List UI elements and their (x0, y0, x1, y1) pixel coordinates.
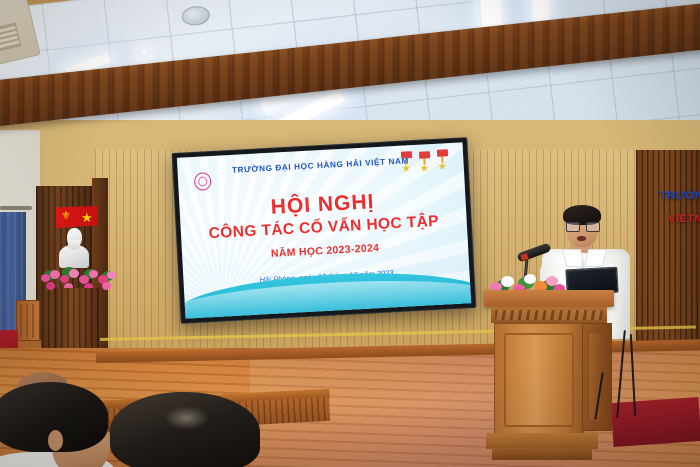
flower (107, 271, 116, 279)
wall-sign-blue: TRƯỜNG (660, 190, 700, 202)
wall-sign-red: VIETN (668, 213, 700, 225)
flower (89, 270, 98, 278)
eyeglasses-icon (566, 222, 598, 230)
attendee-ear (48, 430, 63, 451)
vietnam-party-flags-icon: ⚜ (56, 204, 100, 231)
lectern-carved-panel (491, 307, 607, 323)
flower (50, 270, 60, 279)
flower (69, 269, 79, 278)
laptop-screen (569, 270, 616, 292)
wooden-lectern (484, 290, 614, 462)
decor-star: ★ (438, 162, 447, 172)
dark-wood-panel-right (636, 150, 700, 365)
lens-right (586, 222, 600, 232)
lectern-plinth (492, 448, 592, 460)
lectern-top (484, 290, 614, 307)
red-stage-carpet (611, 397, 700, 447)
decor-star: ★ (420, 164, 429, 174)
hammer-sickle-icon: ⚜ (61, 211, 71, 222)
flower (501, 276, 514, 287)
attendee-hair (110, 392, 260, 467)
decor-star: ★ (402, 164, 411, 174)
projection-screen: ★ ★ ★ TRƯỜNG ĐẠI HỌC HÀNG HẢI VIỆT NAM H… (172, 137, 477, 324)
chair-back (16, 300, 40, 342)
attendee-center (110, 392, 260, 467)
flower (46, 282, 55, 290)
flower (102, 282, 111, 290)
flower (41, 274, 50, 282)
bust-beard (68, 240, 80, 250)
lectern-base (486, 433, 598, 449)
conference-hall-photo: TRƯỜNG VIETN ⚜ (0, 0, 700, 467)
lens-left (566, 222, 580, 232)
slide-surface: ★ ★ ★ TRƯỜNG ĐẠI HỌC HÀNG HẢI VIỆT NAM H… (177, 142, 471, 318)
presenter-mouth (577, 236, 586, 241)
curtain-rail (0, 206, 32, 210)
lectern-front-panel (494, 323, 584, 437)
flower (60, 275, 69, 283)
